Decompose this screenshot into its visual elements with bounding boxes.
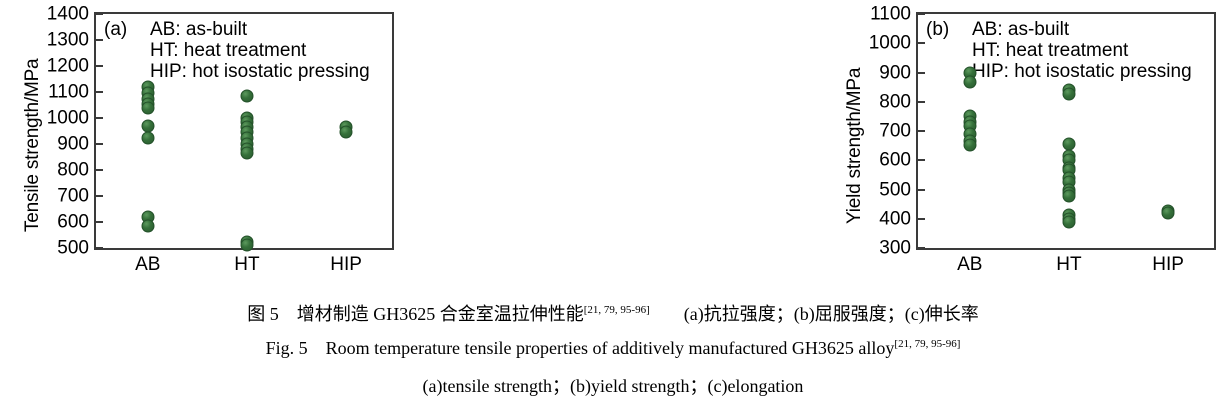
caption-en-label: Fig. 5 xyxy=(266,338,308,358)
y-tick-label: 900 xyxy=(57,135,96,154)
data-point xyxy=(240,238,253,251)
panel-label-a: (a) xyxy=(104,20,127,39)
y-tick-label: 1100 xyxy=(48,83,96,102)
y-tick-label: 800 xyxy=(57,161,96,180)
y-tick-label: 700 xyxy=(57,187,96,206)
data-point xyxy=(240,89,253,102)
y-tick-mark xyxy=(96,39,103,41)
y-tick-label: 600 xyxy=(57,213,96,232)
legend-line-ab: AB: as-built xyxy=(150,19,370,40)
y-tick-label: 500 xyxy=(57,239,96,258)
x-tick-label-ht: HT xyxy=(234,248,259,274)
chart-panel-c: Elongation/% (c) AB: as-built HT: heat t… xyxy=(820,0,1226,290)
caption-english-line1: Fig. 5Room temperature tensile propertie… xyxy=(0,338,1226,359)
data-point xyxy=(141,219,154,232)
plot-area-a: (a) AB: as-built HT: heat treatment HIP:… xyxy=(94,12,394,250)
y-tick-mark xyxy=(96,221,103,223)
caption-cn-label: 图 5 xyxy=(247,304,279,324)
y-axis-label-a: Tensile strength/MPa xyxy=(22,59,44,232)
data-point xyxy=(240,147,253,160)
data-point xyxy=(141,101,154,114)
y-tick-label: 1200 xyxy=(47,57,96,76)
caption-en-title: Room temperature tensile properties of a… xyxy=(326,338,895,358)
caption-en-refs: [21, 79, 95-96] xyxy=(894,338,960,350)
y-tick-mark xyxy=(96,117,103,119)
y-tick-label: 1000 xyxy=(47,109,96,128)
legend-a: AB: as-built HT: heat treatment HIP: hot… xyxy=(150,19,370,82)
y-tick-label: 1400 xyxy=(47,5,96,24)
x-tick-label-ab: AB xyxy=(135,248,160,274)
y-tick-mark xyxy=(96,91,103,93)
y-tick-label: 1300 xyxy=(47,31,96,50)
caption-english-line2: (a)tensile strength；(b)yield strength；(c… xyxy=(0,372,1226,398)
caption-chinese: 图 5增材制造 GH3625 合金室温拉伸性能[21, 79, 95-96](a… xyxy=(0,300,1226,326)
caption-en-subcaps: (a)tensile strength；(b)yield strength；(c… xyxy=(423,376,804,396)
x-tick-label-hip: HIP xyxy=(330,248,362,274)
caption-cn-subcaps: (a)抗拉强度；(b)屈服强度；(c)伸长率 xyxy=(684,304,979,324)
data-point xyxy=(141,131,154,144)
caption-cn-refs: [21, 79, 95-96] xyxy=(584,304,650,316)
y-tick-mark xyxy=(96,247,103,249)
y-tick-mark xyxy=(96,143,103,145)
caption-cn-title: 增材制造 GH3625 合金室温拉伸性能 xyxy=(297,304,584,324)
data-point xyxy=(340,126,353,139)
y-tick-mark xyxy=(96,195,103,197)
chart-panel-a: Tensile strength/MPa (a) AB: as-built HT… xyxy=(0,0,420,290)
y-tick-mark xyxy=(96,65,103,67)
legend-line-ht: HT: heat treatment xyxy=(150,40,370,61)
legend-line-hip: HIP: hot isostatic pressing xyxy=(150,61,370,82)
chart-panel-b: Yield strength/MPa (b) AB: as-built HT: … xyxy=(411,0,831,290)
y-tick-mark xyxy=(96,13,103,15)
y-tick-mark xyxy=(96,169,103,171)
figure-container: Tensile strength/MPa (a) AB: as-built HT… xyxy=(0,0,1226,417)
